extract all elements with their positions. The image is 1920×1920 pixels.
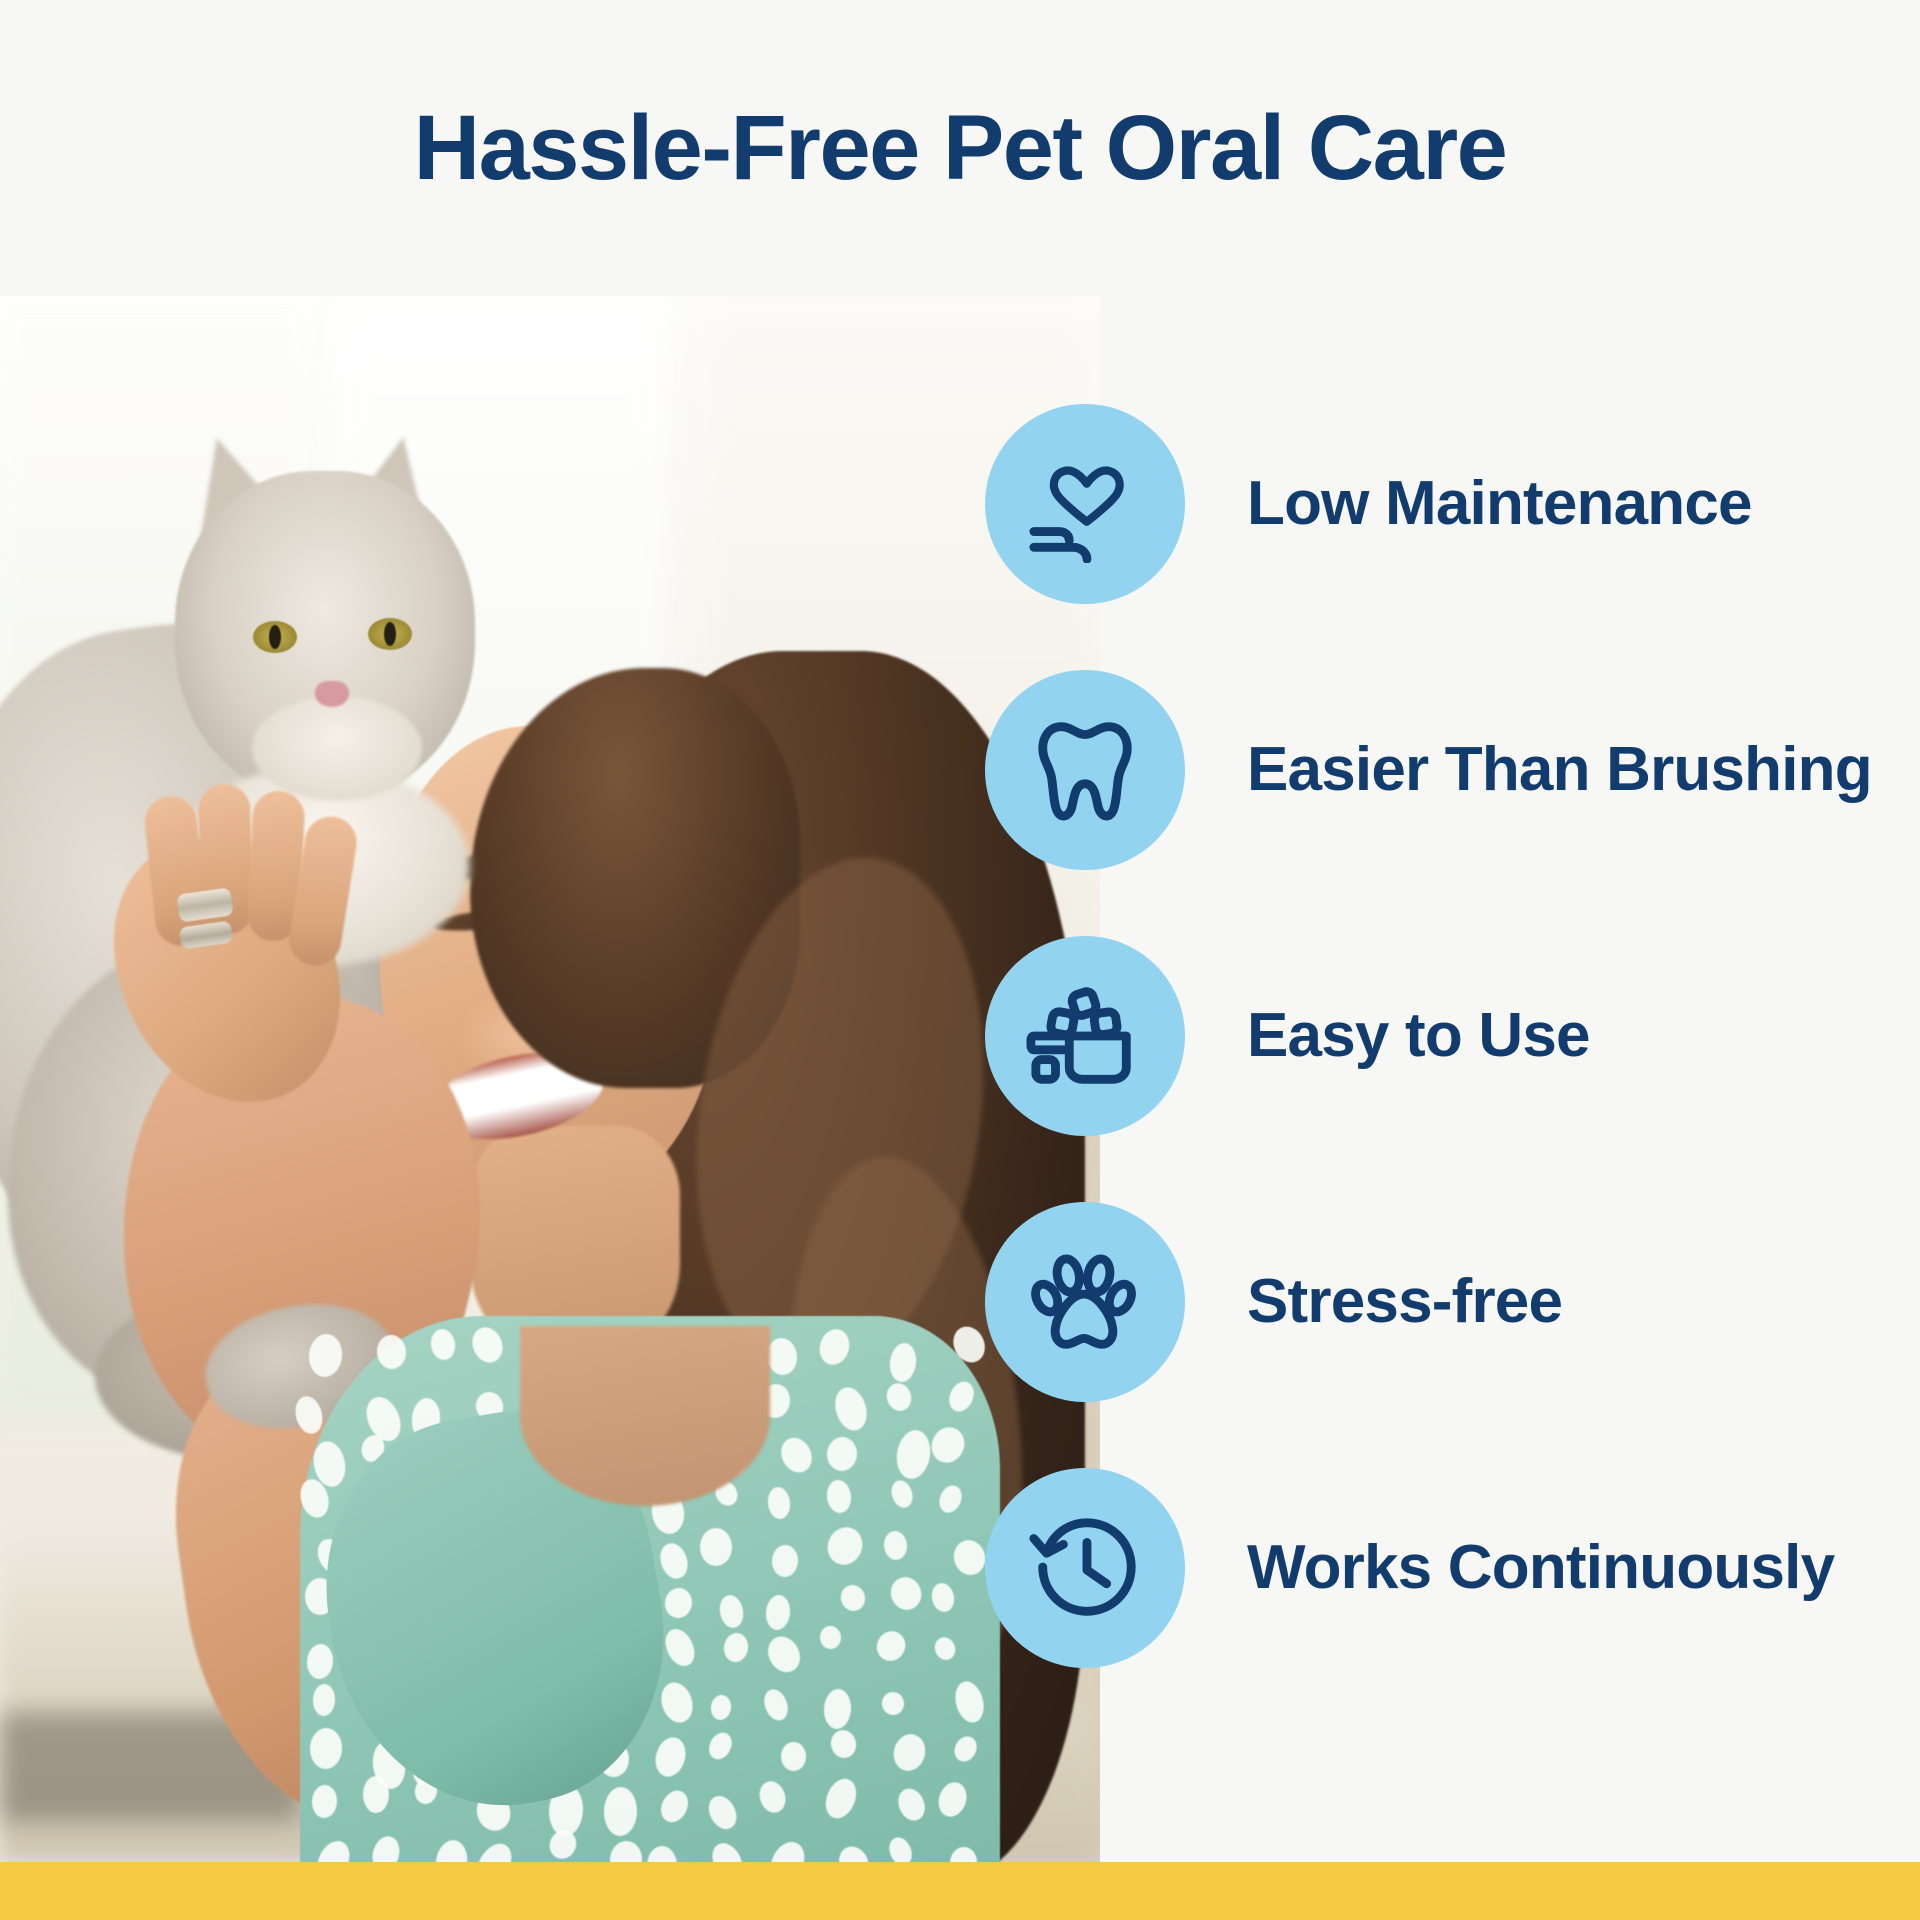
bottom-accent-bar xyxy=(0,1862,1920,1920)
polka-dot xyxy=(433,1838,470,1862)
polka-dot xyxy=(823,1688,853,1730)
feature-item-low-maintenance: Low Maintenance xyxy=(985,400,1905,608)
polka-dot xyxy=(945,1377,978,1415)
polka-dot xyxy=(469,1837,518,1862)
polka-dot xyxy=(871,1627,910,1667)
polka-dot xyxy=(660,1625,700,1672)
polka-dot xyxy=(312,1836,356,1862)
polka-dot xyxy=(834,1842,875,1862)
polka-dot xyxy=(545,1826,581,1862)
polka-dot xyxy=(884,1379,916,1413)
page-title: Hassle-Free Pet Oral Care xyxy=(0,96,1920,200)
polka-dot xyxy=(608,1839,643,1862)
icon-badge xyxy=(985,404,1185,604)
feature-label: Easier Than Brushing xyxy=(1247,735,1872,805)
polka-dot xyxy=(307,1333,344,1379)
feature-list: Low Maintenance Easier Than Brushing xyxy=(985,400,1905,1672)
polka-dot xyxy=(886,1573,925,1614)
polka-dot xyxy=(603,1786,637,1835)
polka-dot xyxy=(822,1522,868,1570)
infographic-canvas: Hassle-Free Pet Oral Care xyxy=(0,0,1920,1920)
polka-dot xyxy=(821,1775,862,1823)
feature-item-stress-free: Stress-free xyxy=(985,1198,1905,1406)
hero-photo xyxy=(0,296,1100,1862)
polka-dot xyxy=(926,1422,970,1468)
polka-dot xyxy=(815,1325,853,1367)
cat-eye-right xyxy=(368,618,412,650)
polka-dot xyxy=(656,1540,692,1583)
feature-label: Low Maintenance xyxy=(1247,469,1752,539)
cat-eye-left xyxy=(253,621,297,653)
polka-dot xyxy=(949,1537,989,1579)
polka-dot xyxy=(830,1383,871,1434)
polka-dot xyxy=(468,1323,508,1367)
polka-dot xyxy=(706,1838,748,1862)
polka-dot xyxy=(776,1432,819,1478)
cat-muzzle xyxy=(252,696,422,801)
polka-dot xyxy=(949,1846,979,1862)
polka-dot xyxy=(890,1730,929,1773)
feature-item-works-continuously: Works Continuously xyxy=(985,1464,1905,1672)
feature-item-easier-than-brushing: Easier Than Brushing xyxy=(985,666,1905,874)
cat-nose xyxy=(315,681,349,707)
feature-label: Stress-free xyxy=(1247,1267,1562,1337)
polka-dot xyxy=(838,1582,869,1614)
icon-badge xyxy=(985,1202,1185,1402)
polka-dot xyxy=(950,1732,981,1765)
polka-dot xyxy=(705,1728,736,1762)
polka-dot xyxy=(656,1786,693,1827)
polka-dot xyxy=(764,1836,811,1862)
polka-dot xyxy=(376,1334,407,1370)
polka-dot xyxy=(829,1728,860,1761)
polka-dot xyxy=(762,1631,806,1678)
polka-dot xyxy=(722,1632,750,1664)
polka-dot xyxy=(885,1834,915,1862)
polka-dot xyxy=(764,1594,791,1631)
polka-dot xyxy=(717,1593,746,1630)
polka-dot xyxy=(819,1625,842,1650)
polka-dot xyxy=(305,1643,334,1680)
polka-dot xyxy=(313,1684,337,1717)
polka-dot xyxy=(826,1436,859,1473)
polka-dot xyxy=(760,1687,791,1724)
polka-dot xyxy=(951,1678,988,1725)
polka-dot xyxy=(369,1833,404,1862)
shirt-neckline xyxy=(520,1326,770,1506)
polka-dot xyxy=(825,1479,853,1515)
polka-dot xyxy=(882,1530,908,1561)
polka-dot xyxy=(656,1678,698,1727)
polka-dot xyxy=(766,1486,792,1521)
icon-badge xyxy=(985,936,1185,1136)
polka-dot xyxy=(893,1427,933,1481)
polka-dot xyxy=(771,1545,799,1578)
polka-dot xyxy=(309,1728,343,1770)
icon-badge xyxy=(985,1468,1185,1668)
polka-dot xyxy=(880,1691,905,1717)
polka-dot xyxy=(780,1742,805,1771)
polka-dot xyxy=(935,1482,965,1516)
polka-dot xyxy=(647,1846,677,1862)
measuring-scoop-icon xyxy=(1026,977,1144,1095)
heart-in-hand-icon xyxy=(1026,445,1144,563)
feature-label: Easy to Use xyxy=(1247,1001,1590,1071)
polka-dot xyxy=(710,1694,733,1721)
polka-dot xyxy=(311,1784,338,1818)
polka-dot xyxy=(363,1776,389,1814)
feature-label: Works Continuously xyxy=(1247,1533,1834,1603)
polka-dot xyxy=(429,1327,458,1361)
polka-dot xyxy=(889,1477,917,1510)
polka-dot xyxy=(663,1587,694,1620)
tooth-icon xyxy=(1026,711,1144,829)
polka-dot xyxy=(929,1581,957,1614)
polka-dot xyxy=(704,1791,742,1833)
clock-refresh-icon xyxy=(1026,1509,1144,1627)
feature-item-easy-to-use: Easy to Use xyxy=(985,932,1905,1140)
polka-dot xyxy=(755,1778,789,1816)
icon-badge xyxy=(985,670,1185,870)
polka-dot xyxy=(888,1341,919,1383)
polka-dot xyxy=(894,1785,930,1825)
polka-dot xyxy=(700,1528,732,1566)
polka-dot xyxy=(651,1734,690,1781)
polka-dot xyxy=(932,1634,960,1663)
polka-dot xyxy=(935,1779,972,1821)
paw-print-icon xyxy=(1026,1243,1144,1361)
